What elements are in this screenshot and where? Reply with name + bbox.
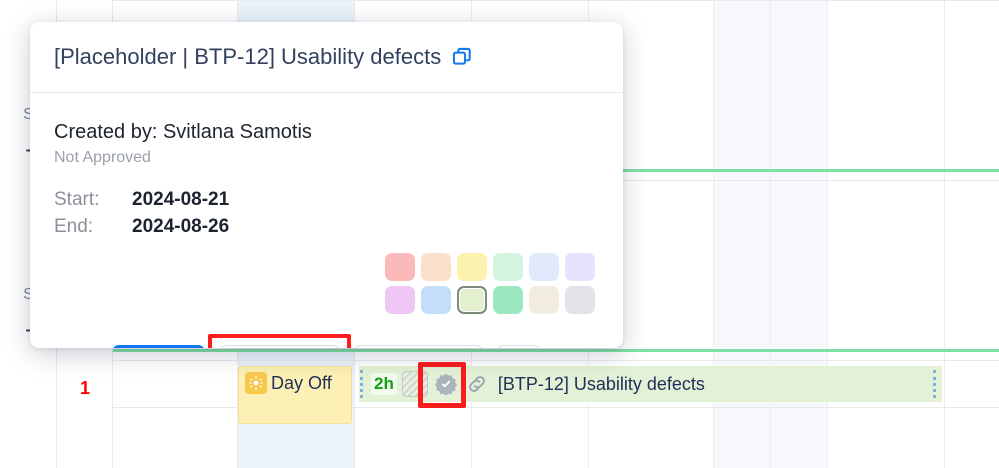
annotation-marker-1: 1 xyxy=(57,378,113,399)
popover-actions: Open Approve Schedule xyxy=(30,345,623,348)
external-link-button[interactable] xyxy=(497,345,541,348)
color-swatch-green[interactable] xyxy=(493,286,523,314)
task-detail-popover: [Placeholder | BTP-12] Usability defects… xyxy=(30,22,623,348)
popover-header: [Placeholder | BTP-12] Usability defects xyxy=(30,22,623,93)
color-swatch-sky[interactable] xyxy=(421,286,451,314)
date-range: Start: 2024-08-21 End: 2024-08-26 xyxy=(54,186,599,240)
schedule-button[interactable]: Schedule xyxy=(354,345,483,348)
copy-icon[interactable] xyxy=(451,46,473,68)
approve-button[interactable]: Approve xyxy=(219,345,340,348)
capacity-bar xyxy=(0,349,999,352)
start-date-label: Start: xyxy=(54,186,132,213)
end-date-label: End: xyxy=(54,213,132,240)
open-button[interactable]: Open xyxy=(112,345,205,348)
day-off-label: Day Off xyxy=(271,373,332,394)
color-swatch-grey[interactable] xyxy=(565,286,595,314)
task-title: [BTP-12] Usability defects xyxy=(498,374,705,395)
hatched-placeholder-icon[interactable] xyxy=(402,371,428,397)
color-picker[interactable] xyxy=(385,253,599,316)
start-date-row: Start: 2024-08-21 xyxy=(54,186,599,213)
color-swatch-lavender[interactable] xyxy=(565,253,595,281)
grid-row-divider xyxy=(0,407,999,408)
color-swatch-peach[interactable] xyxy=(421,253,451,281)
day-off-chip[interactable]: Day Off xyxy=(238,366,352,424)
task-duration-badge: 2h xyxy=(371,373,397,395)
page-title: [Placeholder | BTP-12] Usability defects xyxy=(54,44,441,70)
popover-body: Created by: Svitlana Samotis Not Approve… xyxy=(30,93,623,348)
approve-button-wrapper: Approve xyxy=(219,345,340,348)
start-date-value: 2024-08-21 xyxy=(132,186,229,213)
color-swatch-cream[interactable] xyxy=(529,286,559,314)
color-swatch-mint[interactable] xyxy=(493,253,523,281)
calendar-column[interactable] xyxy=(945,0,999,468)
color-swatch-red[interactable] xyxy=(385,253,415,281)
badge-check-icon[interactable] xyxy=(433,371,459,397)
color-swatch-light-green[interactable] xyxy=(457,286,487,314)
color-swatch-orchid[interactable] xyxy=(385,286,415,314)
grid-row-divider xyxy=(0,360,999,361)
color-swatch-light-blue[interactable] xyxy=(529,253,559,281)
link-icon[interactable] xyxy=(464,371,490,397)
end-date-value: 2024-08-26 xyxy=(132,213,229,240)
sun-icon xyxy=(245,372,267,394)
resize-handle-left[interactable] xyxy=(360,370,366,398)
status-badge: Not Approved xyxy=(54,147,599,169)
end-date-row: End: 2024-08-26 xyxy=(54,213,599,240)
grid-row-divider xyxy=(0,0,999,1)
color-swatch-yellow[interactable] xyxy=(457,253,487,281)
calendar-task-bar[interactable]: 2h [BTP-12] Usability defects xyxy=(359,366,942,402)
resize-handle-right[interactable] xyxy=(933,370,939,398)
created-by-text: Created by: Svitlana Samotis xyxy=(54,119,599,145)
